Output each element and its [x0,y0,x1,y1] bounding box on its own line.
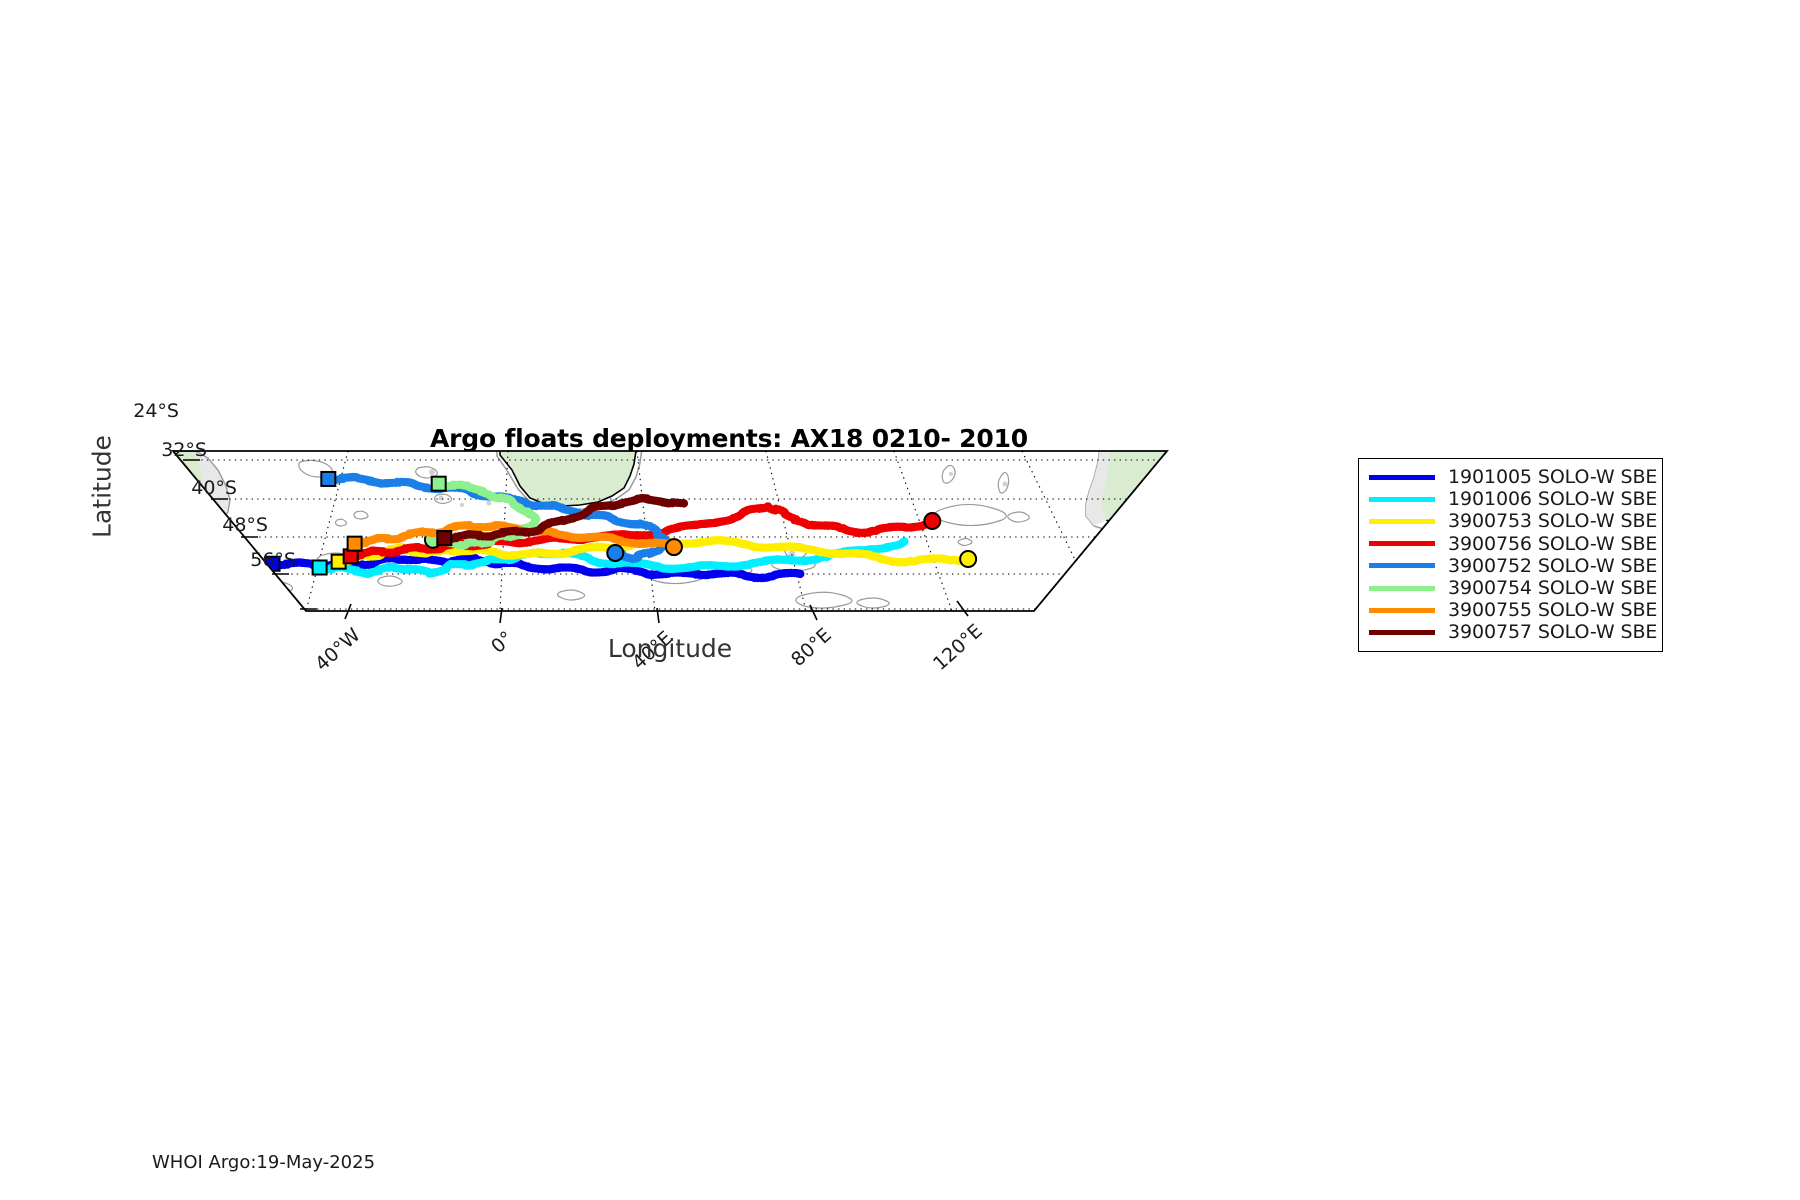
legend-item-label: 3900757 SOLO-W SBE [1448,621,1657,643]
track-start-marker [437,531,451,545]
legend-color-swatch [1369,497,1435,502]
legend-color-swatch [1369,563,1435,568]
legend-item-label: 3900754 SOLO-W SBE [1448,577,1657,599]
legend-item-label: 1901006 SOLO-W SBE [1448,488,1657,510]
legend-color-swatch [1369,630,1435,635]
legend-color-swatch [1369,608,1435,613]
ytick-label: 56°S [171,549,296,571]
legend-item-label: 3900753 SOLO-W SBE [1448,510,1657,532]
legend-color-swatch [1369,475,1435,480]
legend-item[interactable]: 1901006 SOLO-W SBE [1369,488,1654,510]
legend-item-label: 1901005 SOLO-W SBE [1448,466,1657,488]
legend-item[interactable]: 3900756 SOLO-W SBE [1369,533,1654,555]
landmass-australia [1086,448,1167,533]
ytick-label: 48°S [143,514,268,536]
ytick-label: 24°S [54,400,179,422]
y-axis-label: Latitude [88,377,117,597]
track-end-marker [607,545,623,561]
track-start-marker [348,537,362,551]
x-axis-label: Longitude [505,634,835,663]
legend-item[interactable]: 3900755 SOLO-W SBE [1369,599,1654,621]
track-end-marker [960,551,976,567]
legend-item-label: 3900752 SOLO-W SBE [1448,555,1657,577]
legend-item[interactable]: 3900753 SOLO-W SBE [1369,510,1654,532]
figure-canvas: Argo floats deployments: AX18 0210- 2010 [0,0,1800,1200]
legend-item-label: 3900755 SOLO-W SBE [1448,599,1657,621]
legend-item[interactable]: 1901005 SOLO-W SBE [1369,466,1654,488]
legend-item[interactable]: 3900757 SOLO-W SBE [1369,621,1654,643]
legend-item[interactable]: 3900754 SOLO-W SBE [1369,577,1654,599]
legend-color-swatch [1369,541,1435,546]
legend-box: 1901005 SOLO-W SBE 1901006 SOLO-W SBE 39… [1358,458,1663,652]
legend-color-swatch [1369,586,1435,591]
legend-color-swatch [1369,519,1435,524]
track-end-marker [666,539,682,555]
track-start-marker [321,472,335,486]
attribution-text: WHOI Argo:19-May-2025 [152,1152,375,1173]
legend-item-label: 3900756 SOLO-W SBE [1448,533,1657,555]
track-start-marker [432,477,446,491]
track-end-marker [924,513,940,529]
track-start-marker [313,560,327,574]
legend-item[interactable]: 3900752 SOLO-W SBE [1369,555,1654,577]
ytick-label: 40°S [112,477,237,499]
